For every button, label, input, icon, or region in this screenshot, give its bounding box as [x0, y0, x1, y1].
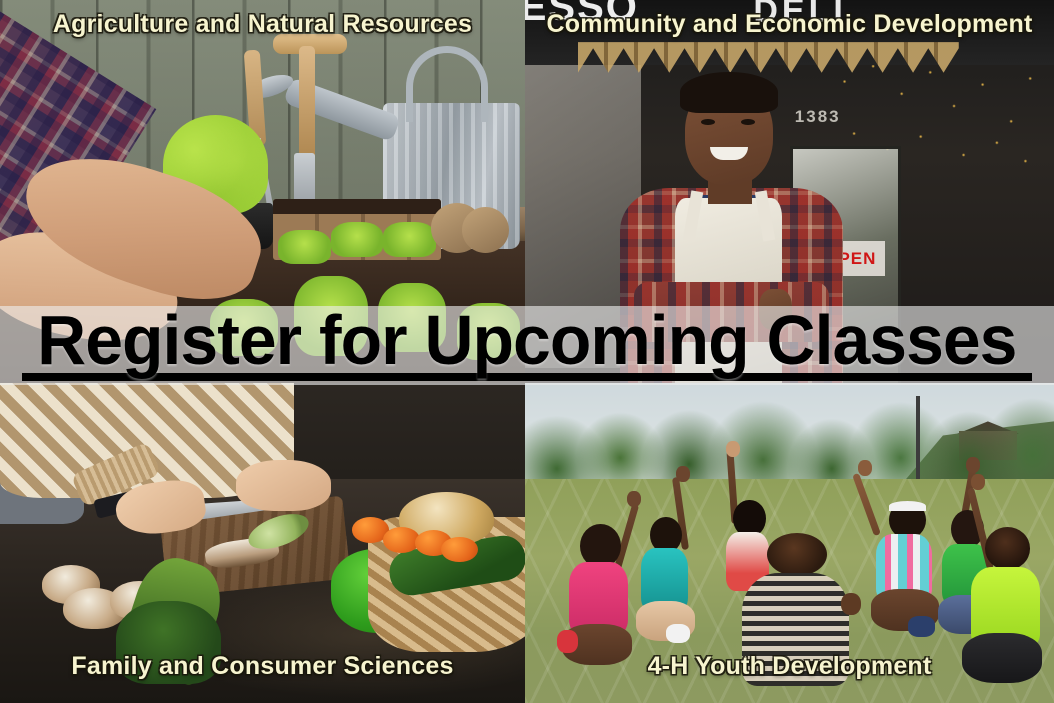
raised-hand: [858, 460, 872, 476]
head: [767, 533, 828, 576]
youth-photo: [525, 383, 1054, 703]
torso: [742, 573, 849, 686]
deli-sign: DELI: [726, 0, 874, 38]
hair: [680, 72, 778, 113]
raised-hand: [841, 593, 861, 615]
esso-side-sign: ESSO: [525, 0, 639, 30]
raised-hand: [726, 441, 740, 457]
peat-pot: [462, 207, 509, 253]
child-striped-shirt: [737, 543, 875, 703]
tray-seedling: [383, 222, 436, 256]
cooking-photo: [0, 383, 525, 703]
lamp-post: [916, 396, 920, 486]
raised-hand: [971, 474, 985, 490]
shoe: [666, 624, 690, 644]
shoe: [557, 630, 579, 654]
legs: [962, 633, 1042, 683]
watering-can-handle: [406, 46, 488, 122]
trowel-handle: [299, 46, 315, 161]
cherry-tomato: [441, 537, 478, 563]
headline-banner: Register for Upcoming Classes: [0, 306, 1054, 385]
headline-wrapper: Register for Upcoming Classes: [22, 304, 1032, 381]
head: [985, 527, 1031, 570]
hand-guiding-vegetable: [236, 460, 331, 511]
shoe: [908, 616, 935, 637]
tray-seedling: [278, 230, 331, 264]
child-neon-shirt: [969, 530, 1054, 696]
headband: [889, 501, 927, 511]
broccolini: [116, 601, 221, 684]
tray-soil: [273, 199, 441, 214]
quadrant-family-and-consumer-sciences[interactable]: Family and Consumer Sciences: [0, 383, 525, 703]
poster-canvas: Agriculture and Natural Resources 1383 O…: [0, 0, 1054, 703]
child-teal-shirt: [636, 511, 715, 652]
raised-hand: [627, 491, 641, 507]
tray-seedling: [331, 222, 384, 256]
page-title: Register for Upcoming Classes: [37, 304, 1016, 376]
raised-hand: [676, 466, 690, 482]
quadrant-4h-youth-development[interactable]: 4-H Youth Development: [525, 383, 1054, 703]
raised-hand: [966, 457, 980, 473]
